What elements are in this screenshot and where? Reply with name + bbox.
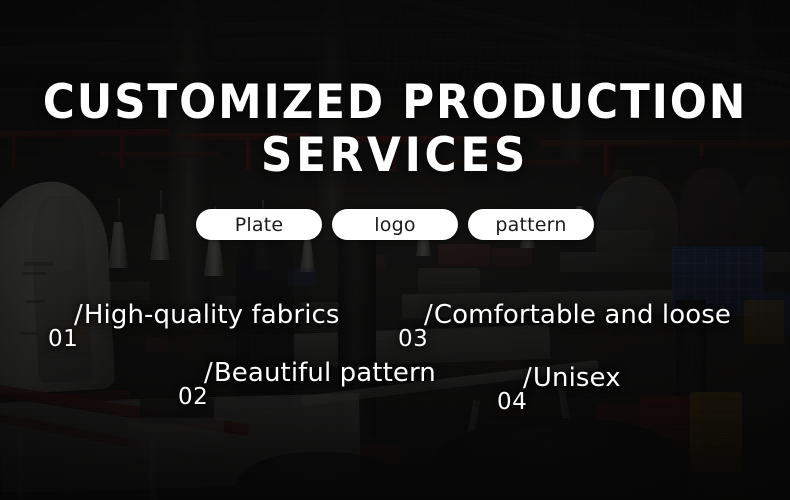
customized-production-services-banner: CUSTOMIZED PRODUCTION SERVICES Plate log…: [0, 0, 790, 500]
feature-text-02: Beautiful pattern: [214, 358, 436, 388]
feature-text-03: Comfortable and loose: [434, 300, 731, 330]
feature-slash-01: /: [74, 300, 83, 330]
feature-text-04: Unisex: [533, 363, 621, 393]
feature-list: 01 /High-quality fabrics 02 /Beautiful p…: [0, 0, 790, 500]
feature-label-03: /Comfortable and loose: [424, 300, 731, 330]
feature-label-01: /High-quality fabrics: [74, 300, 340, 330]
feature-slash-02: /: [204, 358, 213, 388]
feature-slash-03: /: [424, 300, 433, 330]
feature-text-01: High-quality fabrics: [84, 300, 340, 330]
feature-label-02: /Beautiful pattern: [204, 358, 436, 388]
banner-content: CUSTOMIZED PRODUCTION SERVICES Plate log…: [0, 0, 790, 500]
feature-slash-04: /: [523, 363, 532, 393]
feature-label-04: /Unisex: [523, 363, 621, 393]
